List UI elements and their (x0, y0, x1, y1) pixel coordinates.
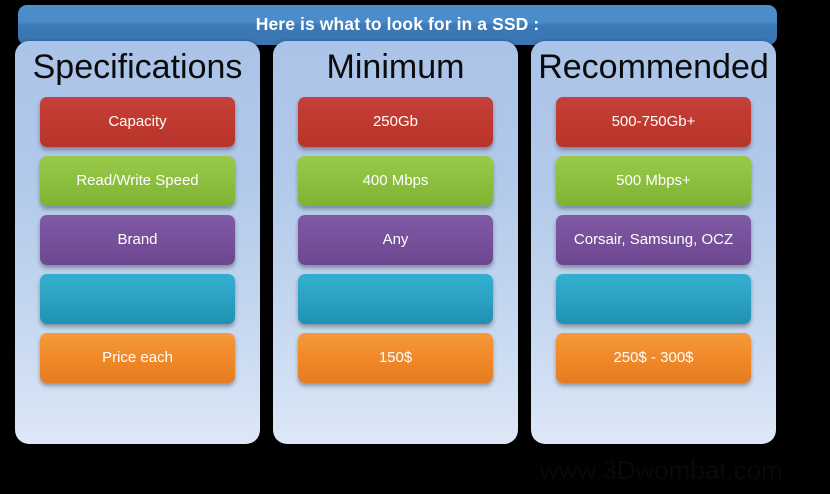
slide-title: Here is what to look for in a SSD : (256, 16, 540, 34)
bar-list-recommended: 500-750Gb+ 500 Mbps+ Corsair, Samsung, O… (556, 97, 751, 392)
bar-label: Corsair, Samsung, OCZ (569, 232, 738, 249)
slide-canvas: Here is what to look for in a SSD : Spec… (0, 0, 830, 494)
bar-recommended-capacity[interactable]: 500-750Gb+ (556, 97, 751, 147)
column-heading-recommended: Recommended (531, 47, 776, 87)
column-heading-minimum: Minimum (273, 47, 518, 87)
column-heading-specifications: Specifications (15, 47, 260, 87)
bar-minimum-speed[interactable]: 400 Mbps (298, 156, 493, 206)
bar-recommended-speed[interactable]: 500 Mbps+ (556, 156, 751, 206)
bar-label: 150$ (374, 350, 417, 367)
bar-label: 250$ - 300$ (608, 350, 698, 367)
watermark-text: www.3Dwombat.com (540, 455, 830, 485)
column-panel-recommended: Recommended 500-750Gb+ 500 Mbps+ Corsair… (531, 41, 776, 444)
bar-blank-minimum[interactable] (298, 274, 493, 324)
bar-capacity[interactable]: Capacity (40, 97, 235, 147)
bar-label: Price each (97, 350, 178, 367)
bar-minimum-brand[interactable]: Any (298, 215, 493, 265)
bar-label: 500 Mbps+ (611, 173, 696, 190)
bar-label: 250Gb (368, 114, 423, 131)
title-banner: Here is what to look for in a SSD : (18, 5, 777, 45)
bar-recommended-price[interactable]: 250$ - 300$ (556, 333, 751, 383)
bar-label: Read/Write Speed (71, 173, 203, 190)
bar-recommended-brand[interactable]: Corsair, Samsung, OCZ (556, 215, 751, 265)
bar-blank-specifications[interactable] (40, 274, 235, 324)
bar-list-specifications: Capacity Read/Write Speed Brand Price ea… (40, 97, 235, 392)
bar-minimum-capacity[interactable]: 250Gb (298, 97, 493, 147)
bar-minimum-price[interactable]: 150$ (298, 333, 493, 383)
bar-read-write-speed[interactable]: Read/Write Speed (40, 156, 235, 206)
bar-list-minimum: 250Gb 400 Mbps Any 150$ (298, 97, 493, 392)
comparison-columns: Specifications Capacity Read/Write Speed… (0, 41, 830, 451)
bar-label: Any (378, 232, 414, 249)
bar-label: Capacity (103, 114, 171, 131)
bar-label: Brand (112, 232, 162, 249)
column-panel-specifications: Specifications Capacity Read/Write Speed… (15, 41, 260, 444)
bar-label: 500-750Gb+ (607, 114, 701, 131)
bar-price-each[interactable]: Price each (40, 333, 235, 383)
bar-label: 400 Mbps (358, 173, 434, 190)
bar-brand[interactable]: Brand (40, 215, 235, 265)
bar-blank-recommended[interactable] (556, 274, 751, 324)
column-panel-minimum: Minimum 250Gb 400 Mbps Any 150$ (273, 41, 518, 444)
